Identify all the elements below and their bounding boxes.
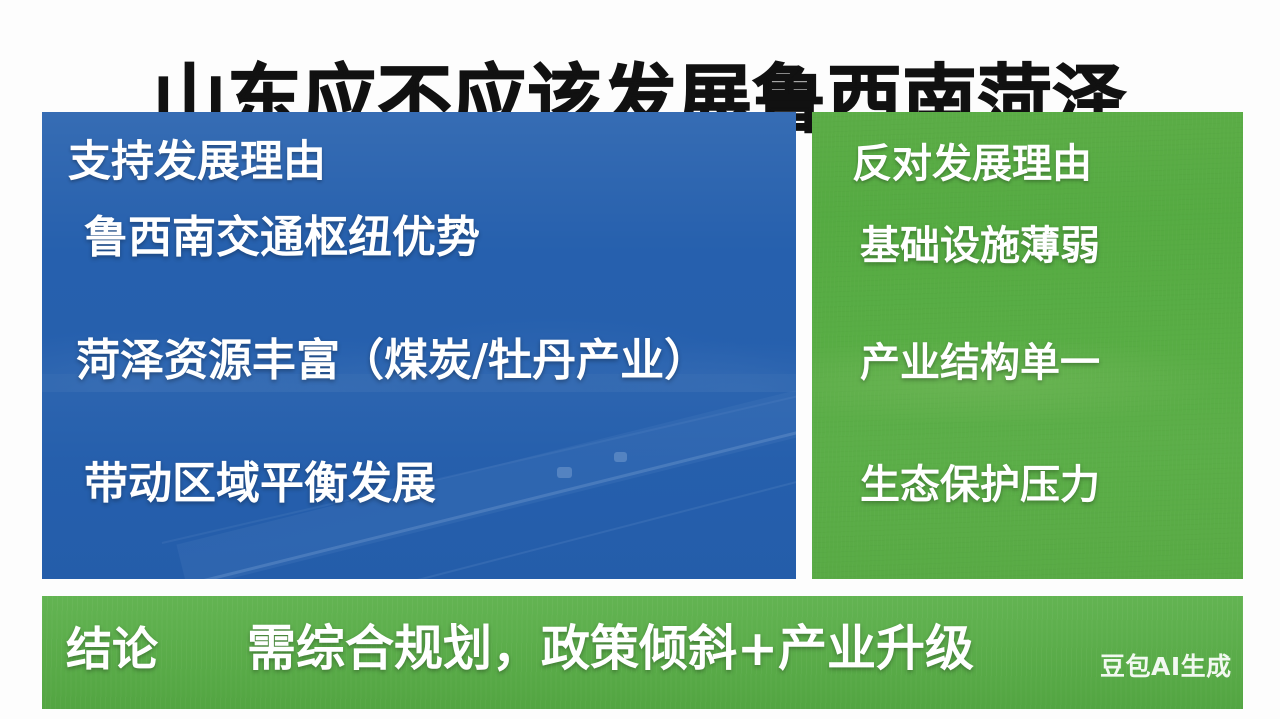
- con-panel-heading: 反对发展理由: [852, 144, 1092, 184]
- conclusion-label: 结论: [66, 626, 158, 672]
- con-reason-item-3: 生态保护压力: [860, 465, 1100, 505]
- con-reason-item-2: 产业结构单一: [860, 343, 1100, 383]
- slide-root: 山东应不应该发展鲁西南菏泽 支持发展理由 鲁西南交通枢纽优势 菏泽资源丰富（煤炭…: [0, 0, 1280, 719]
- watermark: 豆包AI生成: [1100, 654, 1232, 679]
- conclusion-text: 需综合规划，政策倾斜+产业升级: [247, 624, 974, 673]
- con-reason-item-1: 基础设施薄弱: [860, 226, 1100, 266]
